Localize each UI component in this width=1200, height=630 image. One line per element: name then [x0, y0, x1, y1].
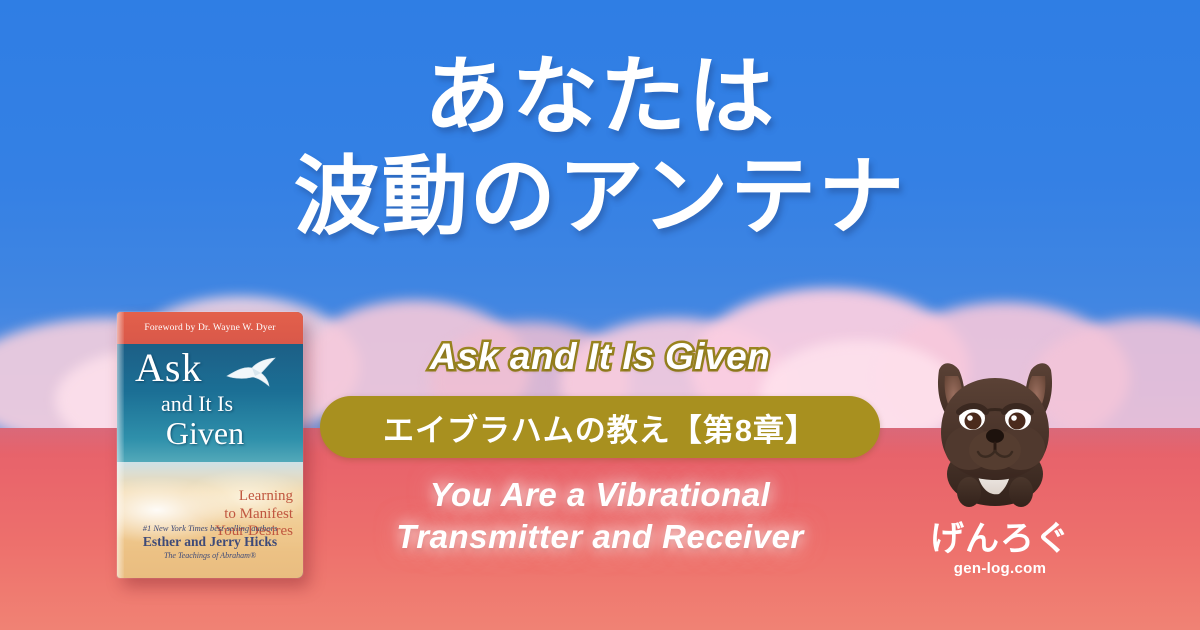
book-title-line-1: Ask [117, 348, 303, 388]
english-tagline-line-2: Transmitter and Receiver [250, 516, 950, 558]
page-title-line-2: 波動のアンテナ [0, 148, 1200, 248]
site-logo-mark: げんろぐ [930, 522, 1070, 556]
book-cover-foreword-band: Foreword by Dr. Wayne W. Dyer [117, 312, 303, 344]
book-title-line-3: Given [117, 417, 303, 449]
book-spine [117, 312, 124, 578]
page-title-line-1: あなたは [0, 48, 1200, 148]
book-foreword-text: Foreword by Dr. Wayne W. Dyer [144, 323, 275, 333]
french-bulldog-mascot-icon [915, 352, 1075, 512]
english-tagline-line-1: You Are a Vibrational [250, 474, 950, 516]
chapter-badge-label: エイブラハムの教え【第8章】 [383, 405, 817, 450]
book-title-line-2: and It Is [117, 393, 303, 415]
page-title: あなたは 波動のアンテナ [0, 48, 1200, 248]
english-book-title: Ask and It Is Given [300, 336, 900, 378]
book-cover-title: Ask and It Is Given [117, 348, 303, 449]
site-logo[interactable]: げんろぐ gen-log.com [930, 522, 1070, 576]
site-logo-url: gen-log.com [930, 561, 1070, 576]
og-image-canvas: あなたは 波動のアンテナ Foreword by Dr. Wayne W. Dy… [0, 0, 1200, 630]
chapter-badge: エイブラハムの教え【第8章】 [320, 396, 880, 458]
english-tagline: You Are a Vibrational Transmitter and Re… [250, 474, 950, 558]
